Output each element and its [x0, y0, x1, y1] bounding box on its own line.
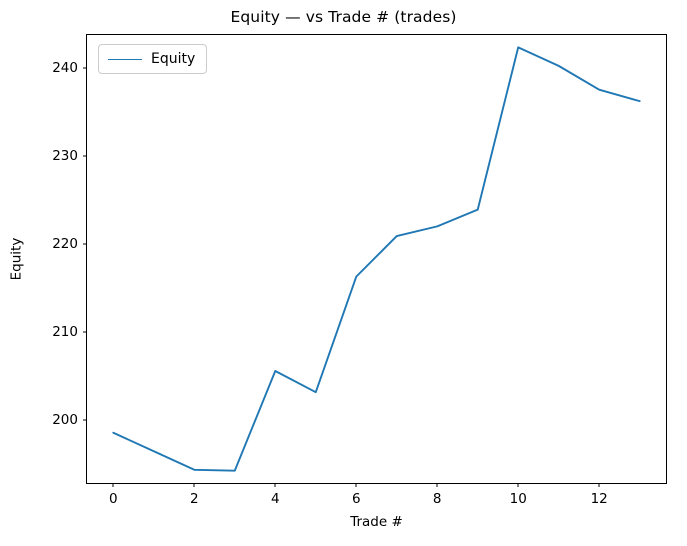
y-axis-tick [83, 67, 87, 68]
x-axis-tick [599, 483, 600, 487]
y-axis-tick-label: 240 [52, 60, 78, 76]
x-axis-tick [437, 483, 438, 487]
y-axis-label: Equity [8, 34, 24, 484]
y-axis-tick [83, 155, 87, 156]
chart-title: Equity — vs Trade # (trades) [0, 8, 687, 26]
x-axis-tick [518, 483, 519, 487]
y-axis-tick [83, 420, 87, 421]
x-axis-tick-label: 0 [109, 491, 118, 507]
x-axis-label: Trade # [86, 514, 667, 530]
x-axis-tick-label: 6 [352, 491, 361, 507]
legend-label-equity: Equity [151, 51, 195, 67]
x-axis-tick-label: 8 [433, 491, 442, 507]
y-axis-tick-label: 230 [52, 148, 78, 164]
x-axis-tick-label: 2 [190, 491, 199, 507]
y-axis-tick-label: 220 [52, 236, 78, 252]
x-axis-tick [113, 483, 114, 487]
x-axis-tick-label: 12 [591, 491, 608, 507]
y-axis-tick [83, 332, 87, 333]
equity-line-path [113, 47, 639, 470]
y-axis-tick-label: 200 [52, 412, 78, 428]
equity-chart-figure: Equity — vs Trade # (trades) Equity 2002… [0, 0, 687, 546]
x-axis-tick-label: 10 [510, 491, 527, 507]
chart-legend[interactable]: Equity [98, 44, 207, 74]
x-axis-tick-label: 4 [271, 491, 280, 507]
y-axis-label-text: Equity [8, 238, 24, 281]
x-axis-tick [275, 483, 276, 487]
equity-line-series [87, 35, 666, 483]
y-axis-tick [83, 244, 87, 245]
x-axis-tick [194, 483, 195, 487]
x-axis-tick [356, 483, 357, 487]
plot-area: 200210220230240024681012 [86, 34, 667, 484]
y-axis-tick-label: 210 [52, 324, 78, 340]
legend-line-swatch [108, 59, 142, 60]
